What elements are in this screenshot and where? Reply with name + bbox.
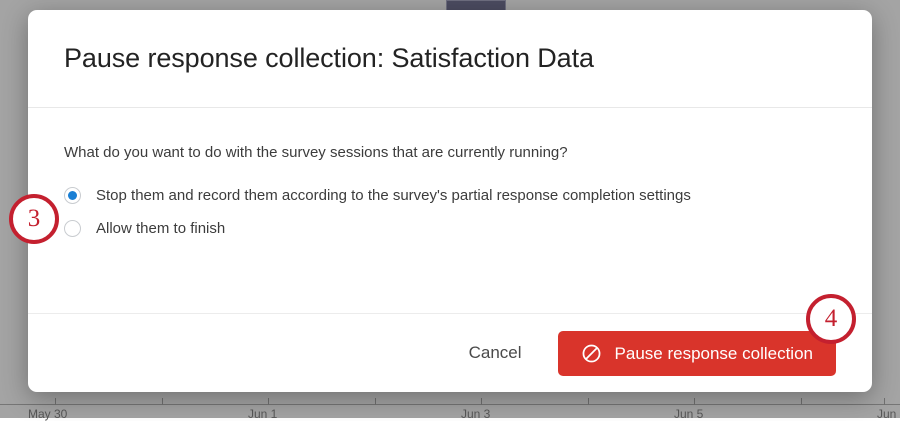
dialog-footer: Cancel Pause response collection — [28, 313, 872, 392]
step-badge-4: 4 — [806, 294, 856, 344]
session-handling-radio-group: Stop them and record them according to t… — [64, 187, 836, 237]
pause-response-collection-button[interactable]: Pause response collection — [558, 331, 836, 376]
dialog-question: What do you want to do with the survey s… — [64, 144, 836, 161]
step-badge-3: 3 — [9, 194, 59, 244]
page-root: May 30 Jun 1 Jun 3 Jun 5 Jun Pause respo… — [0, 0, 900, 418]
radio-button-unselected-icon[interactable] — [64, 220, 81, 237]
pause-response-collection-dialog: Pause response collection: Satisfaction … — [28, 10, 872, 392]
dialog-body: What do you want to do with the survey s… — [28, 108, 872, 247]
ban-icon — [581, 343, 602, 364]
radio-button-selected-icon[interactable] — [64, 187, 81, 204]
radio-option-label: Allow them to finish — [96, 220, 225, 237]
dialog-header: Pause response collection: Satisfaction … — [28, 10, 872, 108]
radio-option-stop-and-record[interactable]: Stop them and record them according to t… — [64, 187, 836, 204]
dialog-title: Pause response collection: Satisfaction … — [64, 43, 594, 74]
radio-option-label: Stop them and record them according to t… — [96, 187, 691, 204]
radio-option-allow-finish[interactable]: Allow them to finish — [64, 220, 836, 237]
pause-response-collection-button-label: Pause response collection — [615, 345, 813, 362]
cancel-button[interactable]: Cancel — [467, 337, 524, 369]
